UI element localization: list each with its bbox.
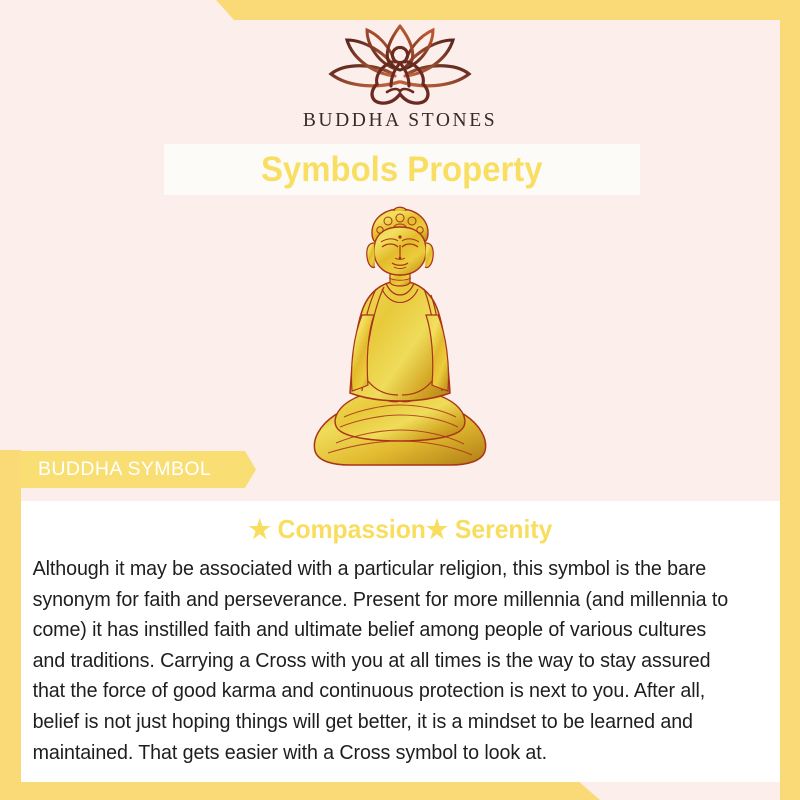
left-yellow-strip	[0, 450, 21, 800]
page-title: Symbols Property	[261, 150, 543, 190]
content-panel: ★ Compassion★ Serenity Although it may b…	[21, 501, 780, 782]
lotus-meditation-icon	[309, 22, 491, 108]
golden-buddha-statue	[300, 203, 500, 491]
buddha-symbol-ribbon: BUDDHA SYMBOL	[20, 451, 256, 488]
content-subtitle: ★ Compassion★ Serenity	[40, 514, 761, 545]
bottom-yellow-band	[0, 781, 800, 800]
title-band: Symbols Property	[164, 144, 640, 195]
brand-logo: BUDDHA STONES	[0, 22, 800, 132]
ribbon-label: BUDDHA SYMBOL	[20, 458, 211, 481]
brand-name: BUDDHA STONES	[0, 110, 800, 132]
promo-banner-page: BUDDHA STONES Symbols Property	[0, 0, 800, 800]
top-yellow-band	[0, 0, 800, 20]
content-body: Although it may be associated with a par…	[21, 554, 753, 768]
